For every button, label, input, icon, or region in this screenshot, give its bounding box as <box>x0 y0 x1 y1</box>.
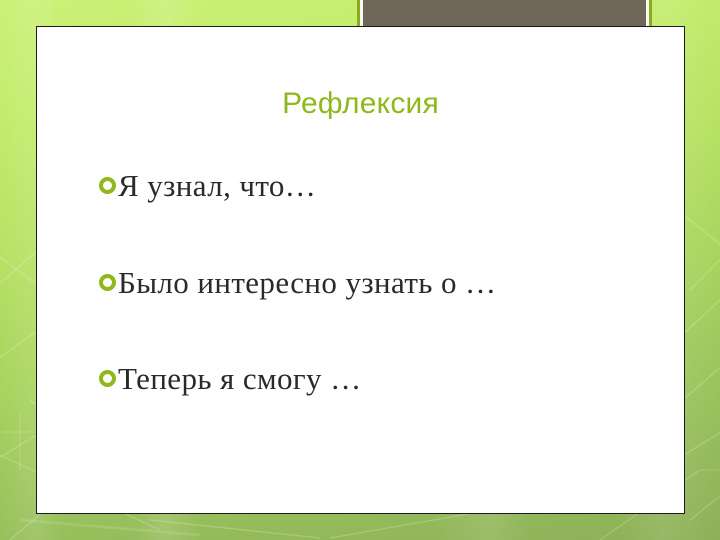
bullet-list: Я узнал, что… Было интересно узнать о … … <box>99 169 654 397</box>
list-item: Я узнал, что… <box>99 169 654 204</box>
list-item: Было интересно узнать о … <box>99 266 654 301</box>
list-item: Теперь я смогу … <box>99 362 654 397</box>
list-item-label: Теперь я смогу … <box>118 362 362 397</box>
slide-title: Рефлексия <box>37 87 684 121</box>
ring-bullet-icon <box>99 274 116 291</box>
ring-bullet-icon <box>99 177 116 194</box>
slide-content-card: Рефлексия Я узнал, что… Было интересно у… <box>36 26 685 514</box>
list-item-label: Было интересно узнать о … <box>118 266 496 301</box>
ring-bullet-icon <box>99 370 116 387</box>
list-item-label: Я узнал, что… <box>118 169 316 204</box>
presentation-slide: Рефлексия Я узнал, что… Было интересно у… <box>0 0 720 540</box>
